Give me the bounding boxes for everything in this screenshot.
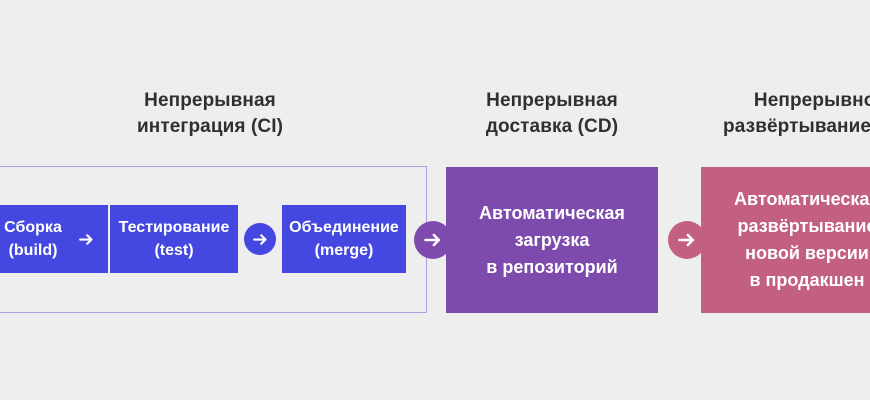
stage-title-cd-line2: доставка (CD): [432, 114, 672, 140]
stage-box-build-line1: Сборка: [4, 216, 62, 239]
stage-title-cdeploy-line2: развёртывание (CD): [690, 114, 870, 140]
stage-box-cd-line1: Автоматическая: [479, 200, 625, 227]
stage-box-merge-line1: Объединение: [289, 216, 399, 239]
stage-box-cd-line2: загрузка: [479, 227, 625, 254]
diagram-canvas: Непрерывная интеграция (CI) Непрерывная …: [0, 0, 870, 400]
stage-title-cdeploy-line1: Непрерывное: [690, 88, 870, 114]
stage-box-cdeploy-line3: новой версии: [734, 240, 870, 267]
arrow-right-icon-ci-to-cd: [414, 221, 452, 259]
stage-box-cdeploy-line1: Автоматическая: [734, 186, 870, 213]
stage-title-ci-line2: интеграция (CI): [60, 114, 360, 140]
arrow-right-icon-cd-to-cdeploy: [668, 221, 706, 259]
stage-title-cd-line1: Непрерывная: [432, 88, 672, 114]
stage-title-cd: Непрерывная доставка (CD): [432, 88, 672, 140]
stage-box-cdeploy-release-to-production[interactable]: Автоматическая развёртывание новой верси…: [701, 167, 870, 313]
stage-box-test-line2: (test): [119, 239, 230, 262]
stage-box-merge[interactable]: Объединение (merge): [282, 205, 406, 273]
arrow-right-icon-build-to-test: [70, 223, 102, 255]
stage-box-merge-line2: (merge): [289, 239, 399, 262]
stage-box-cdeploy-line4: в продакшен: [734, 267, 870, 294]
arrow-right-icon-test-to-merge: [244, 223, 276, 255]
stage-box-cdeploy-line2: развёртывание: [734, 213, 870, 240]
stage-box-cd-upload-to-repository[interactable]: Автоматическая загрузка в репозиторий: [446, 167, 658, 313]
stage-box-cd-line3: в репозиторий: [479, 254, 625, 281]
stage-title-ci: Непрерывная интеграция (CI): [60, 88, 360, 140]
stage-box-build-line2: (build): [4, 239, 62, 262]
stage-box-test-line1: Тестирование: [119, 216, 230, 239]
stage-title-continuous-deployment: Непрерывное развёртывание (CD): [690, 88, 870, 140]
stage-box-test[interactable]: Тестирование (test): [110, 205, 238, 273]
stage-title-ci-line1: Непрерывная: [60, 88, 360, 114]
